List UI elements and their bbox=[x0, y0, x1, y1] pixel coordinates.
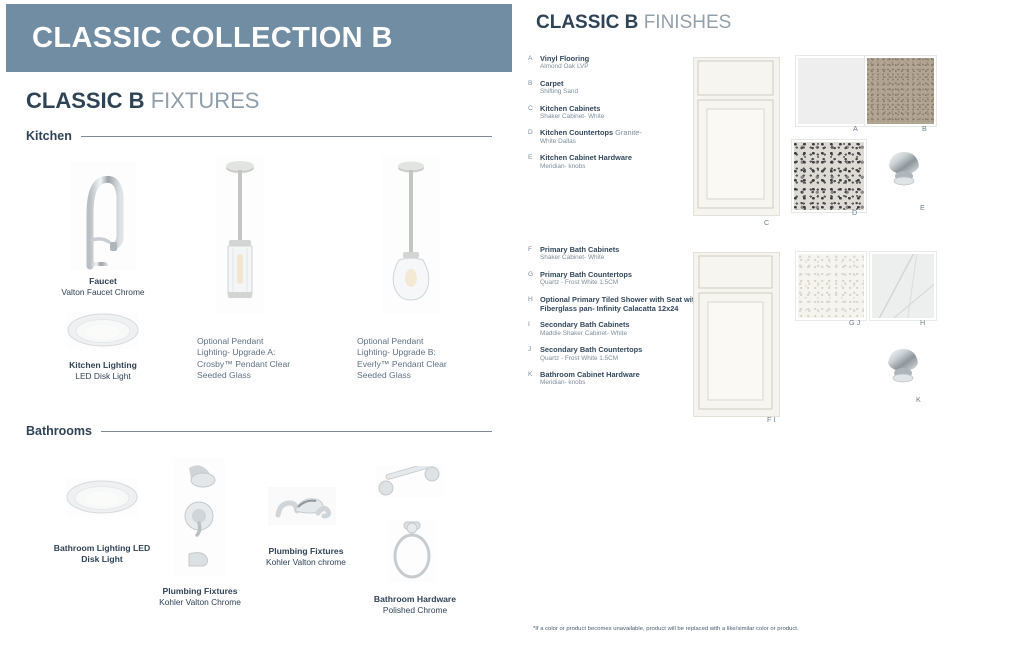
legend-body: Kitchen Cabinet HardwareMeridian- knobs bbox=[540, 153, 700, 171]
caption-kitchen-lighting-name: Kitchen Lighting bbox=[35, 360, 171, 371]
legend-desc: Shaker Cabinet- White bbox=[540, 113, 700, 121]
legend-desc: Shaker Cabinet- White bbox=[540, 254, 700, 262]
swatch-label-b: B bbox=[922, 124, 927, 133]
legend-body: Vinyl FlooringAlmond Oak LVP bbox=[540, 54, 700, 72]
legend-name: Primary Bath Countertops bbox=[540, 270, 700, 279]
swatch-label-gj: G J bbox=[849, 318, 860, 327]
caption-bath-lighting: Bathroom Lighting LED Disk Light bbox=[52, 543, 152, 564]
fixtures-heading-light: FIXTURES bbox=[151, 88, 260, 113]
legend-desc: White Dallas bbox=[540, 138, 700, 146]
finishes-column: CLASSIC B FINISHES AVinyl FlooringAlmond… bbox=[512, 0, 1024, 653]
legend-name: Kitchen Countertops Granite- bbox=[540, 128, 700, 137]
legend-item: GPrimary Bath CountertopsQuartz - Frost … bbox=[528, 270, 700, 288]
legend-item: FPrimary Bath CabinetsShaker Cabinet- Wh… bbox=[528, 245, 700, 263]
legend-item: EKitchen Cabinet HardwareMeridian- knobs bbox=[528, 153, 700, 171]
swatch-label-a: A bbox=[853, 124, 858, 133]
legend-name: Secondary Bath Countertops bbox=[540, 345, 700, 354]
caption-plumbing-lav-name: Plumbing Fixtures bbox=[257, 546, 355, 557]
finishes-heading-light: FINISHES bbox=[644, 12, 732, 33]
section-rule bbox=[81, 136, 492, 137]
fixtures-column: CLASSIC COLLECTION B CLASSIC B FIXTURES … bbox=[0, 0, 512, 653]
legend-letter: D bbox=[528, 128, 540, 146]
legend-body: Optional Primary Tiled Shower with Seat … bbox=[540, 295, 700, 314]
legend-desc: Meridian- knobs bbox=[540, 163, 700, 171]
legend-name: Primary Bath Cabinets bbox=[540, 245, 700, 254]
fixtures-heading: CLASSIC B FIXTURES bbox=[26, 88, 259, 114]
legend-desc: Quartz - Frost White 1.5CM bbox=[540, 279, 700, 287]
caption-bath-hardware: Bathroom Hardware Polished Chrome bbox=[363, 594, 467, 615]
footer-disclaimer: *If a color or product becomes unavailab… bbox=[533, 626, 799, 632]
legend-body: Kitchen Countertops Granite-White Dallas bbox=[540, 128, 700, 146]
legend-letter: I bbox=[528, 320, 540, 338]
legend-letter: G bbox=[528, 270, 540, 288]
legend-item: HOptional Primary Tiled Shower with Seat… bbox=[528, 295, 700, 314]
section-label-kitchen: Kitchen bbox=[26, 129, 72, 143]
swatch-kitchen-cabinet bbox=[693, 57, 780, 216]
legend-item: BCarpetShifting Sand bbox=[528, 79, 700, 97]
legend-body: Secondary Bath CabinetsMaddie Shaker Cab… bbox=[540, 320, 700, 338]
legend-desc: Shifting Sand bbox=[540, 88, 700, 96]
swatch-label-d: D bbox=[852, 208, 857, 217]
legend-letter: E bbox=[528, 153, 540, 171]
finishes-heading-bold: CLASSIC B bbox=[536, 12, 638, 33]
faucet-image bbox=[70, 162, 136, 270]
swatch-kitchen-countertop bbox=[792, 140, 866, 212]
bath-disk-light-image bbox=[66, 478, 138, 516]
caption-pendant-a: Optional Pendant Lighting- Upgrade A: Cr… bbox=[197, 336, 297, 382]
swatch-kitchen-hardware bbox=[882, 148, 926, 192]
caption-faucet-desc: Valton Faucet Chrome bbox=[33, 287, 173, 298]
swatch-label-e: E bbox=[920, 203, 925, 212]
section-rule bbox=[101, 431, 492, 432]
legend-body: CarpetShifting Sand bbox=[540, 79, 700, 97]
legend-body: Bathroom Cabinet HardwareMeridian- knobs bbox=[540, 370, 700, 388]
legend-desc: Meridian- knobs bbox=[540, 379, 700, 387]
legend-item: KBathroom Cabinet HardwareMeridian- knob… bbox=[528, 370, 700, 388]
legend-item: ISecondary Bath CabinetsMaddie Shaker Ca… bbox=[528, 320, 700, 338]
finishes-heading: CLASSIC B FINISHES bbox=[536, 12, 731, 34]
caption-plumbing-shower-desc: Kohler Valton Chrome bbox=[145, 597, 255, 608]
swatch-label-h: H bbox=[920, 318, 925, 327]
section-header-bathrooms: Bathrooms bbox=[26, 424, 492, 438]
caption-faucet: Faucet Valton Faucet Chrome bbox=[33, 276, 173, 297]
legend-letter: C bbox=[528, 104, 540, 122]
legend-desc: Almond Oak LVP bbox=[540, 63, 700, 71]
legend-letter: A bbox=[528, 54, 540, 72]
legend-desc: Maddie Shaker Cabinet- White bbox=[540, 330, 700, 338]
swatch-shower-tile bbox=[870, 252, 936, 320]
pendant-a-image bbox=[216, 156, 264, 314]
legend-body: Primary Bath CabinetsShaker Cabinet- Whi… bbox=[540, 245, 700, 263]
pendant-b-image bbox=[382, 156, 440, 314]
caption-plumbing-shower: Plumbing Fixtures Kohler Valton Chrome bbox=[145, 586, 255, 607]
caption-bath-lighting-name: Bathroom Lighting LED Disk Light bbox=[52, 543, 152, 564]
page-banner: CLASSIC COLLECTION B bbox=[6, 4, 512, 72]
section-label-bathrooms: Bathrooms bbox=[26, 424, 92, 438]
swatch-label-c: C bbox=[764, 218, 769, 227]
caption-plumbing-shower-name: Plumbing Fixtures bbox=[145, 586, 255, 597]
legend-list-bottom: FPrimary Bath CabinetsShaker Cabinet- Wh… bbox=[528, 245, 700, 395]
caption-plumbing-lav: Plumbing Fixtures Kohler Valton chrome bbox=[257, 546, 355, 567]
legend-list-top: AVinyl FlooringAlmond Oak LVPBCarpetShif… bbox=[528, 54, 700, 178]
collection-sheet: CLASSIC COLLECTION B CLASSIC B FIXTURES … bbox=[0, 0, 1024, 653]
swatch-label-k: K bbox=[916, 395, 921, 404]
swatch-bath-cabinet bbox=[693, 252, 780, 417]
legend-letter: B bbox=[528, 79, 540, 97]
legend-name: Kitchen Cabinet Hardware bbox=[540, 153, 700, 162]
caption-kitchen-lighting-desc: LED Disk Light bbox=[35, 371, 171, 382]
lav-faucet-image bbox=[268, 487, 336, 525]
fixtures-heading-bold: CLASSIC B bbox=[26, 88, 145, 113]
legend-body: Secondary Bath CountertopsQuartz - Frost… bbox=[540, 345, 700, 363]
caption-faucet-name: Faucet bbox=[33, 276, 173, 287]
towel-bar-image bbox=[376, 466, 444, 498]
caption-plumbing-lav-desc: Kohler Valton chrome bbox=[257, 557, 355, 568]
caption-pendant-b: Optional Pendant Lighting- Upgrade B: Ev… bbox=[357, 336, 457, 382]
legend-letter: J bbox=[528, 345, 540, 363]
swatch-vinyl-flooring bbox=[796, 56, 867, 126]
towel-ring-image bbox=[388, 520, 436, 582]
page-title: CLASSIC COLLECTION B bbox=[6, 22, 393, 55]
legend-name: Vinyl Flooring bbox=[540, 54, 700, 63]
legend-item: CKitchen CabinetsShaker Cabinet- White bbox=[528, 104, 700, 122]
legend-letter: K bbox=[528, 370, 540, 388]
legend-name: Kitchen Cabinets bbox=[540, 104, 700, 113]
legend-name: Optional Primary Tiled Shower with Seat … bbox=[540, 295, 700, 314]
shower-fixtures-image bbox=[173, 458, 225, 576]
legend-item: JSecondary Bath CountertopsQuartz - Fros… bbox=[528, 345, 700, 363]
legend-item: AVinyl FlooringAlmond Oak LVP bbox=[528, 54, 700, 72]
legend-desc: Quartz - Frost White 1.5CM bbox=[540, 355, 700, 363]
swatch-quartz-countertop bbox=[796, 252, 866, 320]
legend-body: Kitchen CabinetsShaker Cabinet- White bbox=[540, 104, 700, 122]
legend-letter: F bbox=[528, 245, 540, 263]
legend-item: DKitchen Countertops Granite-White Dalla… bbox=[528, 128, 700, 146]
legend-letter: H bbox=[528, 295, 540, 314]
caption-bath-hardware-name: Bathroom Hardware bbox=[363, 594, 467, 605]
section-header-kitchen: Kitchen bbox=[26, 129, 492, 143]
kitchen-disk-light-image bbox=[67, 311, 139, 349]
legend-name: Bathroom Cabinet Hardware bbox=[540, 370, 700, 379]
legend-name-inline: Granite- bbox=[613, 128, 642, 137]
legend-body: Primary Bath CountertopsQuartz - Frost W… bbox=[540, 270, 700, 288]
swatch-label-fi: F I bbox=[767, 415, 775, 424]
swatch-carpet bbox=[865, 56, 936, 126]
caption-kitchen-lighting: Kitchen Lighting LED Disk Light bbox=[35, 360, 171, 381]
swatch-bath-hardware bbox=[881, 345, 925, 389]
legend-name: Secondary Bath Cabinets bbox=[540, 320, 700, 329]
legend-name: Carpet bbox=[540, 79, 700, 88]
caption-bath-hardware-desc: Polished Chrome bbox=[363, 605, 467, 616]
